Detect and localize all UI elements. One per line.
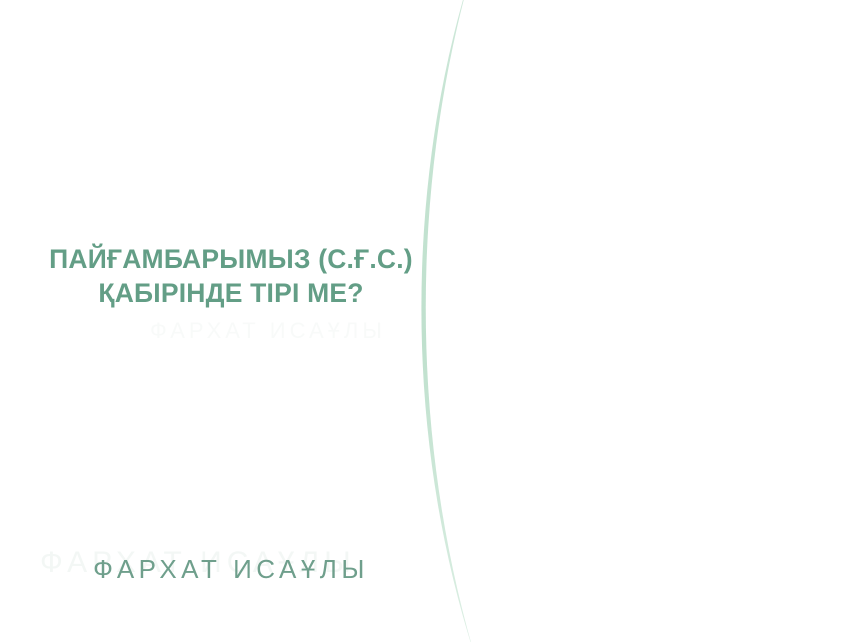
title-line-2: ҚАБІРІНДЕ ТІРІ МЕ? — [0, 277, 462, 311]
cloud-icon — [515, 12, 645, 38]
lattice-arch — [738, 590, 800, 642]
lantern-base — [727, 596, 759, 612]
merlon-crenellation — [455, 506, 745, 517]
title-slide: ФАРХАТ ИСАҰЛЫ ФАРХАТ ИСАҰЛЫ — [0, 0, 860, 642]
minaret-right — [745, 0, 860, 400]
brick-wall — [635, 500, 860, 642]
stone-roof-block — [623, 470, 783, 570]
cloud-icon — [455, 250, 615, 280]
cloud-icon — [455, 40, 585, 74]
cloud-icon — [475, 150, 595, 172]
green-dome — [493, 250, 708, 480]
cloud-icon — [665, 196, 860, 236]
wall-shading — [635, 500, 725, 642]
title-line-1: ПАЙҒАМБАРЫМЫЗ (С.Ғ.С.) — [49, 244, 413, 274]
small-blue-dome — [567, 480, 639, 526]
lattice-arch — [666, 590, 728, 642]
lantern-glass — [735, 566, 751, 588]
cloud-icon — [575, 320, 805, 366]
cloud-icon — [605, 70, 785, 100]
distant-building — [755, 380, 860, 520]
lattice-arch — [594, 590, 656, 642]
stone-parapet — [455, 506, 745, 568]
watermark-text-secondary: ФАРХАТ ИСАҰЛЫ — [150, 318, 386, 344]
lattice-arch — [804, 590, 860, 642]
mosque-photograph — [455, 0, 860, 642]
arched-colonnade — [590, 576, 860, 642]
dome-finial — [599, 244, 603, 274]
lantern-icon — [721, 556, 765, 598]
building-shading — [755, 380, 860, 520]
merlon-crenellation — [590, 576, 860, 585]
minaret-center — [660, 142, 720, 432]
minaret-left — [561, 118, 631, 418]
author-name: ФАРХАТ ИСАҰЛЫ — [0, 554, 462, 585]
page-title: ПАЙҒАМБАРЫМЫЗ (С.Ғ.С.) ҚАБІРІНДЕ ТІРІ МЕ… — [0, 243, 462, 311]
cloud-icon — [705, 120, 855, 146]
lantern-spire — [741, 524, 745, 558]
minaret-far-right — [841, 6, 860, 126]
lantern-pole — [739, 560, 746, 642]
